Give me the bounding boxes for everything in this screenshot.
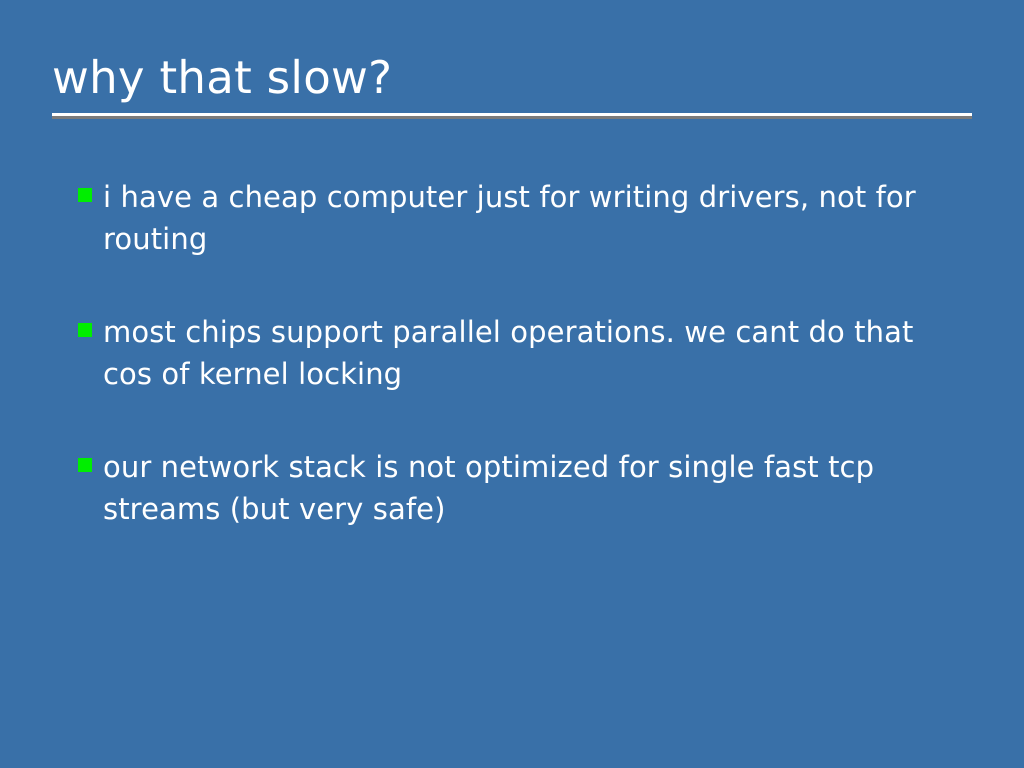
title-divider	[52, 113, 972, 119]
slide-title-block: why that slow?	[52, 50, 972, 106]
list-item: most chips support parallel operations. …	[78, 311, 968, 395]
list-item-label: most chips support parallel operations. …	[103, 311, 968, 395]
green-square-bullet-icon	[78, 188, 92, 202]
page-title: why that slow?	[52, 50, 972, 106]
list-item-label: i have a cheap computer just for writing…	[103, 176, 968, 260]
presentation-slide: why that slow? i have a cheap computer j…	[0, 0, 1024, 768]
bullet-list: i have a cheap computer just for writing…	[78, 176, 968, 530]
green-square-bullet-icon	[78, 458, 92, 472]
list-item-label: our network stack is not optimized for s…	[103, 446, 968, 530]
list-item: our network stack is not optimized for s…	[78, 446, 968, 530]
list-item: i have a cheap computer just for writing…	[78, 176, 968, 260]
divider-shadow-line	[52, 116, 972, 119]
green-square-bullet-icon	[78, 323, 92, 337]
